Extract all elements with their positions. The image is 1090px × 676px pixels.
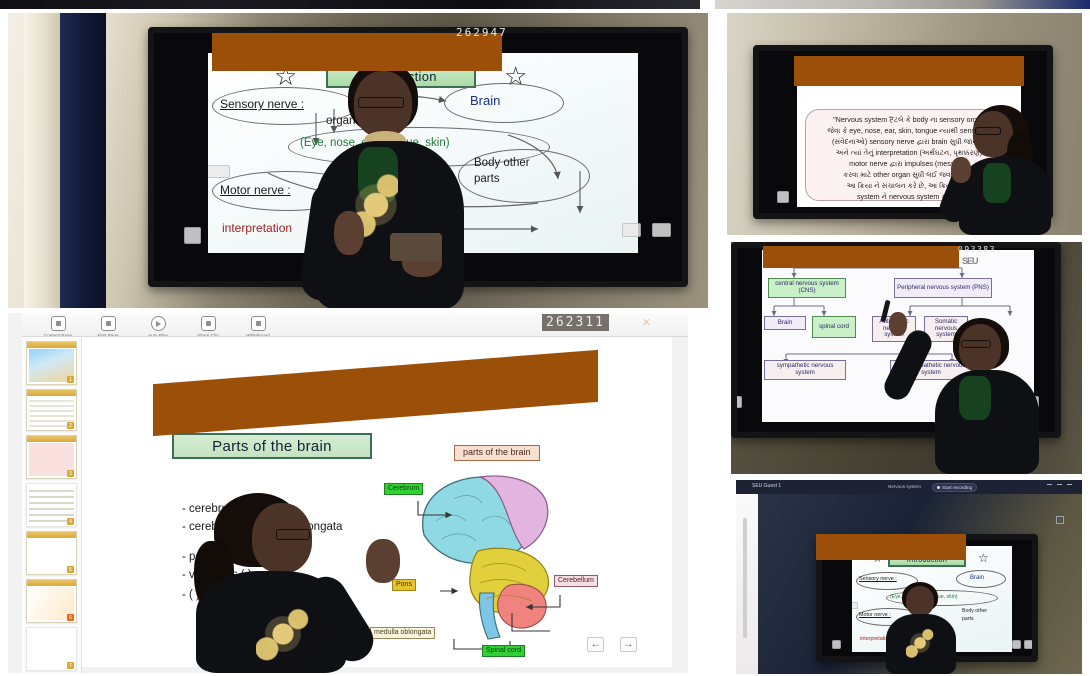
- thumb-number: 2: [67, 422, 74, 429]
- meeting-video-tile: Introduction ☆ ☆ Sensory nerve : Brain (…: [758, 494, 1082, 674]
- meeting-expand-icon[interactable]: [1056, 516, 1064, 524]
- label-sensory-nerve: Sensory nerve :: [220, 97, 304, 111]
- panel-nervous-system-flowchart-photo: central nervous system (CNS) Peripheral …: [731, 242, 1082, 474]
- thumb-header: [27, 580, 76, 586]
- presenter-head: [959, 324, 1001, 372]
- list-item[interactable]: 3: [26, 435, 77, 479]
- list-item[interactable]: 5: [26, 531, 77, 575]
- slide-toolbar-strip[interactable]: [208, 165, 230, 178]
- meeting-topic: Nervous system: [888, 484, 921, 489]
- glasses-icon: [961, 340, 991, 348]
- wall-pillar-light: [24, 13, 60, 308]
- watermark-logo: SEU: [962, 256, 978, 266]
- list-item[interactable]: 2: [26, 389, 77, 431]
- presenter-silhouette-1: [298, 61, 488, 308]
- tv-button-left[interactable]: [184, 227, 201, 244]
- presenter-silhouette-2: [168, 493, 398, 673]
- panel-nervous-system-definition-photo: "Nervous system ਏટલે કે body ના sensory …: [727, 13, 1082, 235]
- presenter-necklace: [906, 622, 934, 664]
- thumb-number: 1: [67, 376, 74, 383]
- auto-play-icon: [151, 316, 166, 331]
- panel-introduction-photo: Introduction ☆ ☆ Sensory nerve : Brain (…: [8, 13, 708, 308]
- record-dot-icon: [937, 486, 940, 489]
- flowchart-box-spinal-cord: spinal cord: [812, 316, 856, 338]
- list-item[interactable]: 6: [26, 579, 77, 623]
- presenter-dupatta: [959, 376, 991, 420]
- tv-button-left[interactable]: [832, 640, 841, 649]
- presenter-hand-pointing: [366, 539, 400, 583]
- toolbar-item-content-page[interactable]: Content Page: [36, 316, 80, 337]
- redaction-bar-bottom-right: [816, 534, 966, 560]
- first-page-icon: [101, 316, 116, 331]
- frame-counter-top-left: 262947: [456, 26, 508, 39]
- brain-illustration: [382, 443, 662, 658]
- thumb-number: 3: [67, 470, 74, 477]
- top-sliver-left: [0, 0, 700, 9]
- thumb-number: 4: [67, 518, 74, 525]
- thumb-header: [27, 532, 76, 538]
- thumb-number: 6: [67, 614, 74, 621]
- presenter-hand: [951, 157, 971, 183]
- meeting-window: SEU Guest 1 Nervous system Start recordi…: [736, 480, 1082, 674]
- toolbar-item-share-clip[interactable]: Share Clip: [186, 316, 230, 337]
- panel-online-meeting-photo: SEU Guest 1 Nervous system Start recordi…: [736, 480, 1082, 674]
- list-item[interactable]: 7: [26, 627, 77, 671]
- slide-thumbnail-rail[interactable]: 1 2 3 4 5: [22, 337, 82, 673]
- tv-button-left[interactable]: [733, 396, 742, 408]
- glasses-icon: [276, 529, 310, 540]
- tv-button-right-1[interactable]: [622, 223, 641, 237]
- scrollbar[interactable]: [743, 518, 747, 638]
- presenter-silhouette-3: [949, 105, 1059, 235]
- thumb-number: 5: [67, 566, 74, 573]
- slide-title-parts-of-brain: Parts of the brain: [172, 433, 372, 459]
- flowchart-box-brain: Brain: [764, 316, 806, 330]
- presenter-necklace: [256, 597, 310, 671]
- redaction-bar-mid-right: [763, 246, 959, 268]
- thumb-header: [27, 390, 76, 396]
- meeting-sidebar[interactable]: [736, 494, 758, 674]
- label-motor-nerve: Motor nerve :: [220, 183, 291, 197]
- photo-collage: Introduction ☆ ☆ Sensory nerve : Brain (…: [0, 0, 1090, 676]
- toolbar-item-auto-play[interactable]: Auto Play: [136, 316, 180, 337]
- flowchart-box-pns: Peripheral nervous system (PNS): [894, 278, 992, 298]
- presenter-dupatta: [983, 163, 1011, 203]
- maximize-button[interactable]: [1057, 484, 1062, 485]
- frame-counter-bottom-left: 262311: [542, 314, 609, 331]
- thumb-header: [27, 436, 76, 442]
- label-brain: Brain: [970, 575, 984, 581]
- slide-toolbar-strip[interactable]: [852, 602, 858, 609]
- thumb-number: 7: [67, 662, 74, 669]
- presenter-hand-left: [334, 211, 364, 255]
- share-clip-icon: [201, 316, 216, 331]
- close-icon[interactable]: [1067, 484, 1072, 485]
- start-recording-button[interactable]: Start recording: [932, 483, 977, 492]
- presenter-hand-pointing: [889, 312, 907, 336]
- list-item[interactable]: 1: [26, 341, 77, 385]
- presenter-phone: [390, 233, 442, 261]
- wall-pillar-dark: [60, 13, 106, 308]
- content-page-icon: [51, 316, 66, 331]
- redaction-bar-top-right: [794, 56, 1024, 86]
- whiteboard-icon: [251, 316, 266, 331]
- slide-next-button[interactable]: →: [620, 637, 637, 652]
- brain-label-spinal-cord: Spinal cord: [482, 645, 525, 657]
- flowchart-box-sympathetic: sympathetic nervous system: [764, 360, 846, 380]
- tv-button-left[interactable]: [777, 191, 789, 203]
- panel-parts-of-brain-photo: Content Page First Page Auto Play Share …: [8, 313, 688, 673]
- frame-counter-mid-right: 093383: [958, 245, 996, 254]
- flowchart-box-cns: central nervous system (CNS): [768, 278, 846, 298]
- thumb-header: [27, 342, 76, 348]
- meeting-title: SEU Guest 1: [752, 483, 781, 489]
- list-item[interactable]: 4: [26, 483, 77, 527]
- tv-button-right-2[interactable]: [1024, 640, 1033, 649]
- brain-label-cerebellum: Cerebellum: [554, 575, 598, 587]
- glasses-icon: [358, 97, 404, 108]
- slide-prev-button[interactable]: ←: [587, 637, 604, 652]
- tv-button-right-2[interactable]: [652, 223, 671, 237]
- meeting-titlebar: SEU Guest 1 Nervous system Start recordi…: [736, 480, 1082, 494]
- toolbar-item-first-page[interactable]: First Page: [86, 316, 130, 337]
- label-interpretation: interpretation: [222, 221, 292, 235]
- tv-button-right-1[interactable]: [1012, 640, 1021, 649]
- toolbar-item-whiteboard[interactable]: Whiteboard: [236, 316, 280, 337]
- minimize-button[interactable]: [1047, 484, 1052, 485]
- top-sliver-right: [715, 0, 1090, 9]
- start-recording-label: Start recording: [942, 485, 972, 490]
- presenter-silhouette-4: [935, 314, 1055, 474]
- presenter-silhouette-5: [884, 582, 970, 674]
- close-icon[interactable]: ×: [642, 315, 651, 330]
- presenter-head: [906, 586, 934, 616]
- star-icon-right: ☆: [978, 552, 989, 564]
- glasses-icon: [975, 127, 1001, 135]
- brain-diagram: parts of the brain: [382, 443, 662, 658]
